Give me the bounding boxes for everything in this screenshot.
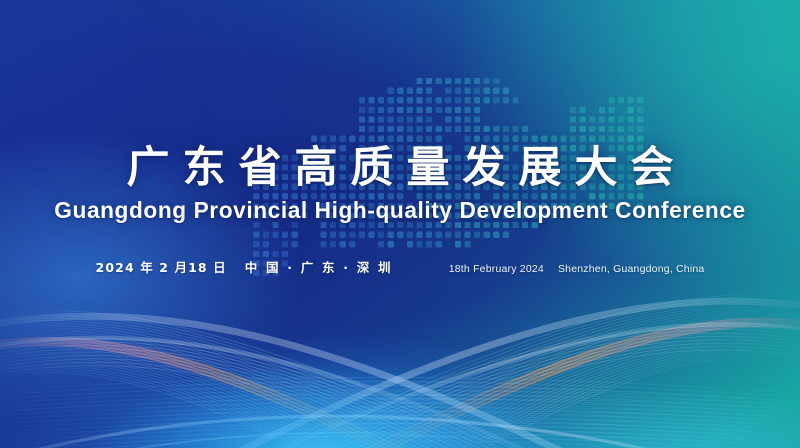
event-meta: 2024 年 2 月18 日 中 国 · 广 东 · 深 圳 18th Febr…	[0, 223, 800, 276]
event-place-chinese: 中 国 · 广 东 · 深 圳	[245, 257, 393, 276]
page-title-chinese: 广东省高质量发展大会	[0, 0, 800, 190]
poster-text-block: 广东省高质量发展大会 Guangdong Provincial High-qua…	[0, 0, 800, 276]
conference-poster: 广东省高质量发展大会 Guangdong Provincial High-qua…	[0, 0, 800, 448]
event-date-english: 18th February 2024	[449, 263, 544, 275]
page-title-english: Guangdong Provincial High-quality Develo…	[14, 190, 786, 223]
event-place-english: Shenzhen, Guangdong, China	[558, 263, 704, 275]
event-date-chinese: 2024 年 2 月18 日	[96, 257, 227, 276]
